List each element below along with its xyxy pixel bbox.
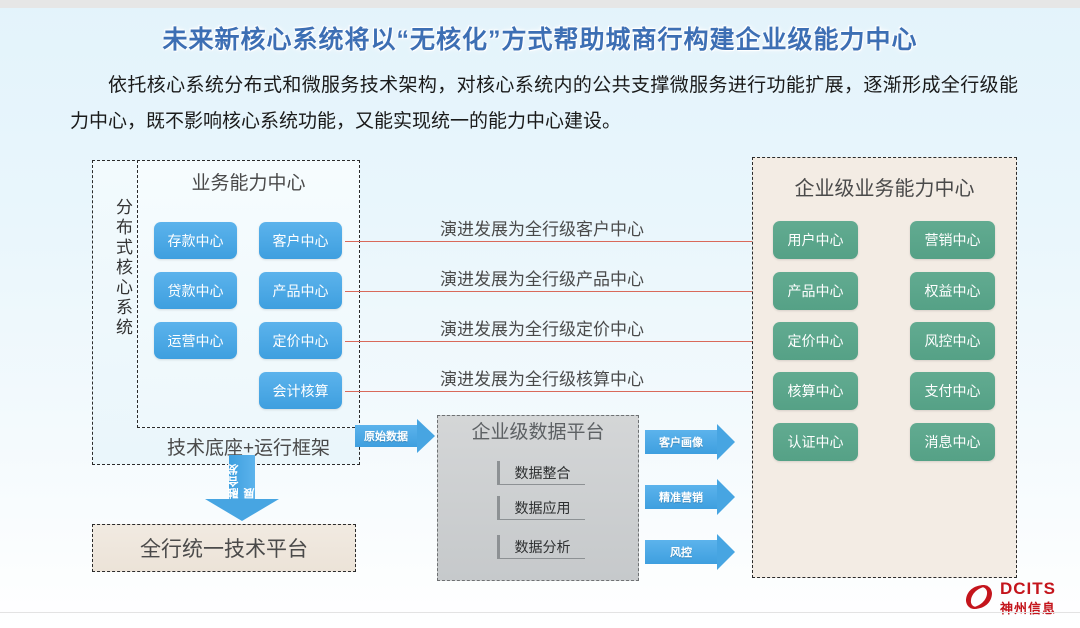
output-arrow-customer-profile: 客户画像 (645, 424, 735, 460)
logo-en-text: DCITS (1000, 579, 1056, 599)
connector-arrow-1 (345, 241, 767, 242)
arrow-head-icon (205, 499, 279, 521)
fusion-development-arrow: 融合发展 (205, 455, 279, 521)
green-box-payment-center[interactable]: 支付中心 (910, 372, 995, 410)
raw-data-arrow: 原始数据 (355, 419, 435, 453)
arrow-head-icon (417, 419, 435, 453)
connector-arrow-3 (345, 341, 767, 342)
data-platform-item-application[interactable]: 数据应用 (497, 496, 585, 520)
blue-box-pricing-center[interactable]: 定价中心 (259, 322, 342, 359)
green-box-marketing-center[interactable]: 营销中心 (910, 221, 995, 259)
enterprise-capability-center-title: 企业级业务能力中心 (752, 172, 1017, 201)
business-capability-center-title: 业务能力中心 (137, 168, 360, 195)
logo-cn-text: 神州信息 (1000, 598, 1056, 617)
blue-box-product-center[interactable]: 产品中心 (259, 272, 342, 309)
blue-box-loan-center[interactable]: 贷款中心 (154, 272, 237, 309)
output-arrow-risk-control: 风控 (645, 534, 735, 570)
green-box-rights-center[interactable]: 权益中心 (910, 272, 995, 310)
output-arrow-precision-marketing: 精准营销 (645, 479, 735, 515)
green-box-user-center[interactable]: 用户中心 (773, 221, 858, 259)
raw-data-arrow-label: 原始数据 (355, 425, 417, 447)
fusion-arrow-label: 融合发展 (229, 455, 255, 499)
dcits-swirl-icon (962, 581, 996, 613)
blue-box-accounting-center[interactable]: 会计核算 (259, 372, 342, 409)
blue-box-operation-center[interactable]: 运营中心 (154, 322, 237, 359)
bottom-divider (0, 612, 1080, 613)
distributed-core-label: 分布式核心系统 (95, 198, 135, 338)
page-title: 未来新核心系统将以“无核化”方式帮助城商行构建企业级能力中心 (0, 20, 1080, 56)
green-box-product-center[interactable]: 产品中心 (773, 272, 858, 310)
connector-label-1: 演进发展为全行级客户中心 (440, 215, 644, 240)
slide-canvas: 未来新核心系统将以“无核化”方式帮助城商行构建企业级能力中心 依托核心系统分布式… (0, 0, 1080, 628)
connector-label-2: 演进发展为全行级产品中心 (440, 265, 644, 290)
company-logo: DCITS 神州信息 (962, 577, 1072, 621)
connector-arrow-4 (345, 391, 767, 392)
output-arrow-label-2: 精准营销 (645, 485, 717, 509)
green-box-pricing-center[interactable]: 定价中心 (773, 322, 858, 360)
unified-tech-platform-box: 全行统一技术平台 (92, 524, 356, 572)
data-platform-item-analysis[interactable]: 数据分析 (497, 535, 585, 559)
page-subtitle: 依托核心系统分布式和微服务技术架构，对核心系统内的公共支撑微服务进行功能扩展，逐… (70, 68, 1018, 140)
data-platform-title: 企业级数据平台 (437, 417, 639, 444)
blue-box-customer-center[interactable]: 客户中心 (259, 222, 342, 259)
output-arrow-label-3: 风控 (645, 540, 717, 564)
connector-label-4: 演进发展为全行级核算中心 (440, 365, 644, 390)
arrow-head-icon (717, 534, 735, 570)
top-strip (0, 0, 1080, 8)
connector-arrow-2 (345, 291, 767, 292)
data-platform-item-integration[interactable]: 数据整合 (497, 461, 585, 485)
green-box-risk-center[interactable]: 风控中心 (910, 322, 995, 360)
arrow-head-icon (717, 479, 735, 515)
green-box-auth-center[interactable]: 认证中心 (773, 423, 858, 461)
output-arrow-label-1: 客户画像 (645, 430, 717, 454)
arrow-head-icon (717, 424, 735, 460)
green-box-message-center[interactable]: 消息中心 (910, 423, 995, 461)
unified-tech-platform-label: 全行统一技术平台 (140, 533, 308, 563)
blue-box-deposit-center[interactable]: 存款中心 (154, 222, 237, 259)
green-box-accounting-center[interactable]: 核算中心 (773, 372, 858, 410)
connector-label-3: 演进发展为全行级定价中心 (440, 315, 644, 340)
